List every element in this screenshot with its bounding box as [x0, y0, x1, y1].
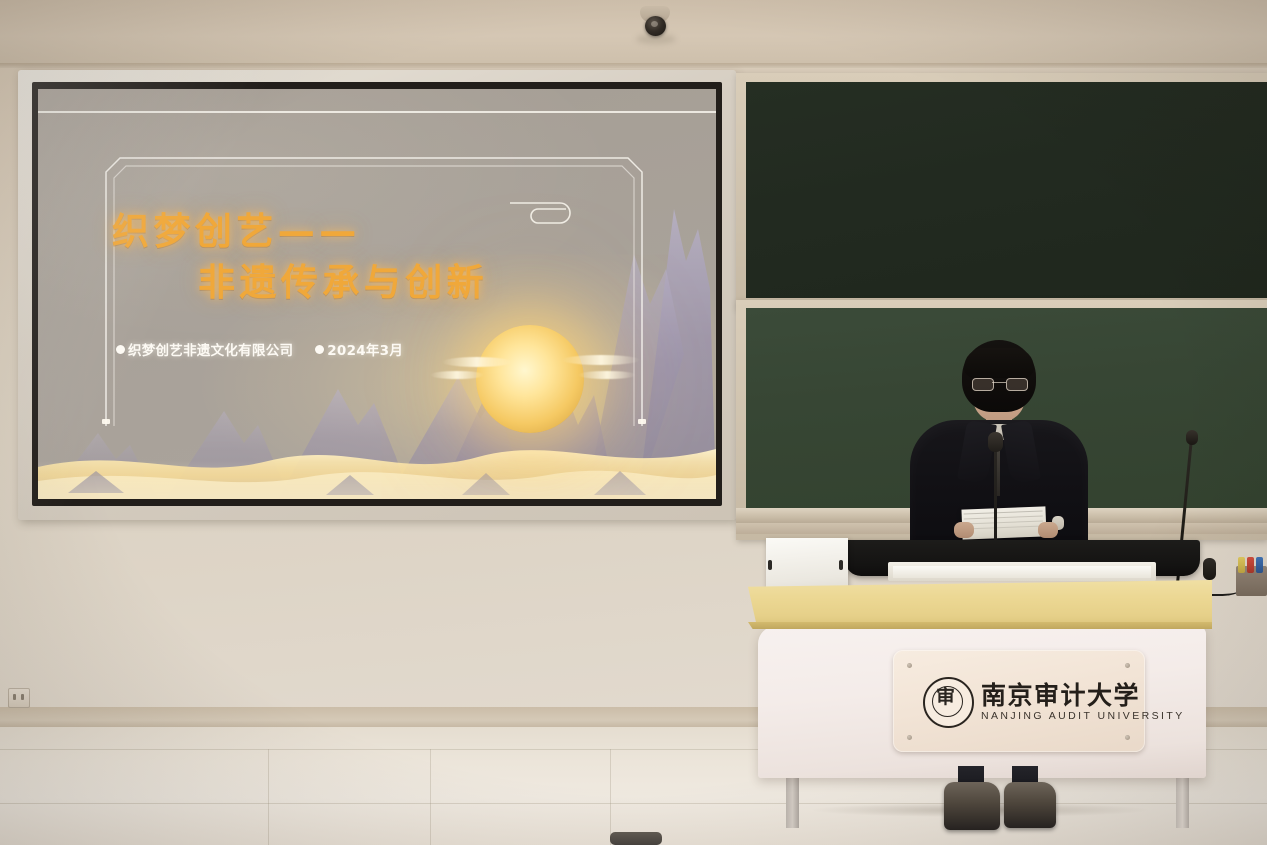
side-microphone-head-icon [1186, 430, 1198, 445]
slide-title-line-2: 非遗传承与创新 [198, 252, 488, 306]
screen-bezel: 织梦创艺—— 非遗传承与创新 织梦创艺非遗文化有限公司2024年3月 [32, 82, 722, 506]
podium-leg-left [786, 772, 799, 828]
shoe-left [944, 782, 1000, 830]
dome-security-camera-icon [645, 16, 666, 36]
slide-company: 织梦创艺非遗文化有限公司 [128, 343, 293, 359]
slide-title-block: 织梦创艺—— 非遗传承与创新 织梦创艺非遗文化有限公司2024年3月 [38, 89, 716, 499]
holder-slot [768, 560, 772, 570]
hair-fringe [964, 348, 1034, 378]
marker-blue [1256, 557, 1263, 573]
slide-date: 2024年3月 [327, 343, 403, 359]
monitor-strip [893, 566, 1151, 578]
podium-worktop [748, 580, 1212, 628]
blackboard-upper [736, 73, 1267, 309]
floor-tile-line [430, 749, 431, 845]
floor-tile-line [268, 749, 269, 845]
plaque-screw [907, 663, 912, 668]
ceiling-edge [0, 63, 1267, 68]
blackboard-upper-surface [746, 82, 1267, 298]
university-plaque: 审 南京审计大学 NANJING AUDIT UNIVERSITY [893, 650, 1145, 752]
plaque-english-name: NANJING AUDIT UNIVERSITY [981, 710, 1185, 722]
plaque-screw [1125, 735, 1130, 740]
wall-power-outlet [8, 688, 30, 708]
plaque-screw [1125, 663, 1130, 668]
marker-red [1247, 557, 1254, 573]
podium-worktop-edge [748, 622, 1212, 629]
ceiling [0, 0, 1267, 66]
shoe-right [1004, 782, 1056, 828]
presentation-slide: 织梦创艺—— 非遗传承与创新 织梦创艺非遗文化有限公司2024年3月 [38, 89, 716, 499]
plaque-chinese-name: 南京审计大学 [981, 676, 1140, 712]
glasses-icon [972, 378, 1026, 389]
desk-microphone-head-icon [988, 432, 1003, 452]
projection-screen[interactable]: 织梦创艺—— 非遗传承与创新 织梦创艺非遗文化有限公司2024年3月 [18, 70, 736, 520]
bullet-icon [315, 345, 324, 354]
classroom-scene: 织梦创艺—— 非遗传承与创新 织梦创艺非遗文化有限公司2024年3月 [0, 0, 1267, 845]
hand-right [1038, 522, 1058, 538]
floor-object [610, 832, 662, 845]
side-microphone-base [1203, 558, 1216, 580]
printed-script [961, 506, 1046, 539]
seal-glyph: 审 [936, 688, 955, 707]
floor-tile-line [610, 749, 611, 845]
bullet-icon [116, 345, 125, 354]
holder-slot [839, 560, 843, 570]
desk-microphone-stem [994, 440, 997, 552]
slide-subtitle: 织梦创艺非遗文化有限公司2024年3月 [116, 339, 403, 359]
podium-leg-right [1176, 772, 1189, 828]
hand-left [954, 522, 974, 538]
marker-holder[interactable] [1236, 566, 1267, 596]
slide-title-line-1: 织梦创艺—— [112, 201, 361, 255]
marker-yellow [1238, 557, 1245, 573]
plaque-screw [907, 735, 912, 740]
university-seal-icon: 审 [923, 677, 974, 728]
